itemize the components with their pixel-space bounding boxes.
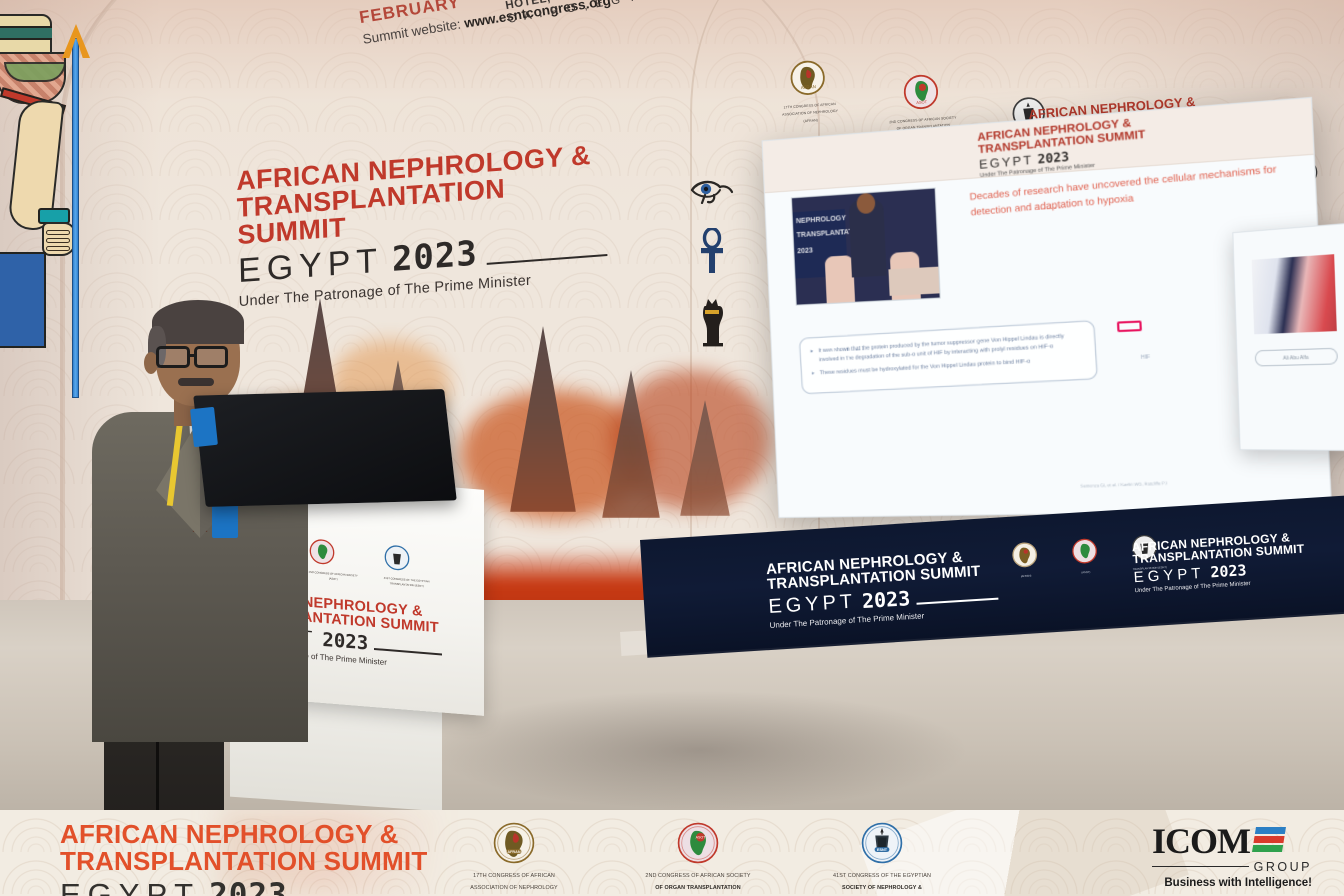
footer-title-block: AFRICAN NEPHROLOGY & TRANSPLANTATION SUM… [60,821,427,896]
eyeglasses-left-lens-icon [156,346,190,368]
footer-branding-bar: AFRICAN NEPHROLOGY & TRANSPLANTATION SUM… [0,810,1344,896]
speaker-badge [212,502,238,538]
icom-wordmark-row: ICOM [1152,824,1312,859]
footer-logo-row: AFRAN 17TH CONGRESS OF AFRICAN ASSOCIATI… [440,822,956,896]
egyptian-mural [0,0,96,440]
skirt2-country: EGYPT [1133,565,1205,586]
skirt-logo-caption: (ASOT) [1073,570,1099,575]
icom-flag-stripe-blue [1255,827,1286,834]
podium-rule [374,648,442,655]
slide-mini-label: HIF [1141,354,1150,361]
afran-emblem-icon-footer: AFRAN [493,822,535,864]
live-video-feed: NEPHROLOGY TRANSPLANTATION 2023 [791,187,941,305]
eyeglasses-bridge-icon [190,354,196,357]
secondary-screen: Ali Abu Alfa [1232,222,1344,451]
asot-emblem-icon-footer: ASOT [677,822,719,864]
bullet-marker: ▸ [810,347,814,365]
skirt-logo-asot: (ASOT) [1071,537,1099,575]
skirt-logo-caption: (AFRAN) [1013,574,1039,579]
afran-emblem-icon: AFRAN [788,59,826,97]
footer-logo-caption1: 17TH CONGRESS OF AFRICAN [440,873,588,881]
pharaoh-staff [72,38,79,398]
eyeglasses-right-lens-icon [194,346,228,368]
svg-text:AFRAN: AFRAN [507,850,520,854]
video-label-line3: 2023 [797,247,813,255]
footer-logo-caption2-bold: OF ORGAN TRANSPLANTATION [655,885,740,891]
footer-title-line1: AFRICAN NEPHROLOGY & [60,821,427,848]
skirt-year: 2023 [861,586,911,613]
backdrop-year: 2023 [392,234,478,280]
esnt-emblem-icon-podium [384,544,410,572]
icom-group-label: GROUP [1254,860,1312,874]
laptop [193,389,457,507]
esnt-emblem-icon-footer: ESNT [861,822,903,864]
footer-logo-caption1: 41ST CONGRESS OF THE EGYPTIAN [808,873,956,881]
svg-text:ESNT: ESNT [877,848,888,852]
speaker-moustache [178,378,214,386]
podium-year: 2023 [322,629,368,655]
footer-logo-caption2: SOCIETY OF NEPHROLOGY & [808,885,956,893]
screen-header-year: 2023 [1037,150,1069,167]
footer-logo-caption1: 2ND CONGRESS OF AFRICAN SOCIETY [624,873,772,881]
icom-tagline: Business with Intelligence! [1152,877,1312,889]
pharaoh-headband [0,26,52,40]
skirt-rule [916,597,998,604]
footer-logo-caption2-bold: SOCIETY OF NEPHROLOGY & [842,885,922,891]
podium-floor-shadow [430,690,970,810]
podium-logo-asot: 2ND CONGRESS OF AFRICAN SOCIETY (ASOT) [309,538,358,584]
screen-header-text: AFRICAN NEPHROLOGY & TRANSPLANTATION SUM… [977,111,1211,180]
icom-divider-rule [1152,866,1249,868]
skirt-logo-afran: (AFRAN) [1011,541,1039,579]
footer-logo-afran: AFRAN 17TH CONGRESS OF AFRICAN ASSOCIATI… [440,822,588,896]
laptop-sticker [190,407,218,447]
icom-group-line: GROUP [1152,860,1312,874]
footer-logo-esnt: ESNT 41ST CONGRESS OF THE EGYPTIAN SOCIE… [808,822,956,896]
afran-emblem-icon-skirt [1011,541,1039,569]
asot-emblem-icon-skirt [1071,537,1099,565]
slide-footnote: Semenza GL et al. / Kaelin WG, Ratcliffe… [1080,480,1167,488]
bastet-cat-icon [697,298,727,350]
skirt2-year: 2023 [1210,561,1247,581]
conference-photo-scene: AFRICAN NEPHROLOGY & TRANSPLANTATION SUM… [0,0,1344,896]
icom-flag-stripe-red [1253,836,1284,843]
pharaoh-kilt [0,252,46,348]
skirt2-title-block: AFRICAN NEPHROLOGY & TRANSPLANTATION SUM… [1131,530,1314,594]
secondary-screen-name-button: Ali Abu Alfa [1255,348,1338,367]
pharaoh-finger [46,230,70,235]
backdrop-logo-afran: AFRAN 17TH CONGRESS OF AFRICAN ASSOCIATI… [753,56,865,126]
video-label-line1: NEPHROLOGY [796,215,846,225]
footer-country-year: EGYPT 2023 [60,877,427,896]
eye-of-horus-icon [689,176,735,204]
footer-country: EGYPT [60,877,200,896]
svg-text:AFRAN: AFRAN [801,84,817,90]
backdrop-rule [487,254,608,265]
svg-text:ASOT: ASOT [916,99,928,105]
bullet-marker: ▸ [812,370,815,379]
pharaoh-finger [46,246,70,251]
asot-emblem-icon: ASOT [902,73,940,111]
slide-bullet-card: ▸ It was shown that the protein produced… [799,320,1098,394]
secondary-screen-photo [1252,254,1337,334]
backdrop-title-block: AFRICAN NEPHROLOGY & TRANSPLANTATION SUM… [236,141,608,310]
skirt-title-block: AFRICAN NEPHROLOGY & TRANSPLANTATION SUM… [766,548,1000,630]
skirt-country: EGYPT [768,590,857,618]
ankh-icon [698,228,726,274]
sponsor-logo-icom: ICOM GROUP Business with Intelligence! [1152,824,1312,889]
footer-logo-caption2: ASSOCIATION OF NEPHROLOGY [440,885,588,893]
footer-logo-caption2: OF ORGAN TRANSPLANTATION [624,885,772,893]
speaker-hair [152,300,244,344]
slide-highlight-box [1117,320,1142,332]
svg-text:ASOT: ASOT [696,836,707,840]
pharaoh-finger [46,238,70,243]
video-table [888,267,940,296]
podium-logo-esnt: 41ST CONGRESS OF THE EGYPTIAN TRANSPLANT… [384,544,430,589]
speaker [86,300,316,820]
hieroglyph-column [686,176,738,374]
backdrop-country: EGYPT [238,241,384,291]
stage-skirt-banner-right: AFRICAN NEPHROLOGY & TRANSPLANTATION SUM… [1120,502,1344,627]
icom-flag-icon [1252,827,1286,852]
footer-title-line2: TRANSPLANTATION SUMMIT [60,848,427,875]
icom-wordmark: ICOM [1152,824,1250,859]
footer-year: 2023 [209,877,288,896]
footer-logo-asot: ASOT 2ND CONGRESS OF AFRICAN SOCIETY OF … [624,822,772,896]
icom-flag-stripe-green [1252,845,1283,852]
